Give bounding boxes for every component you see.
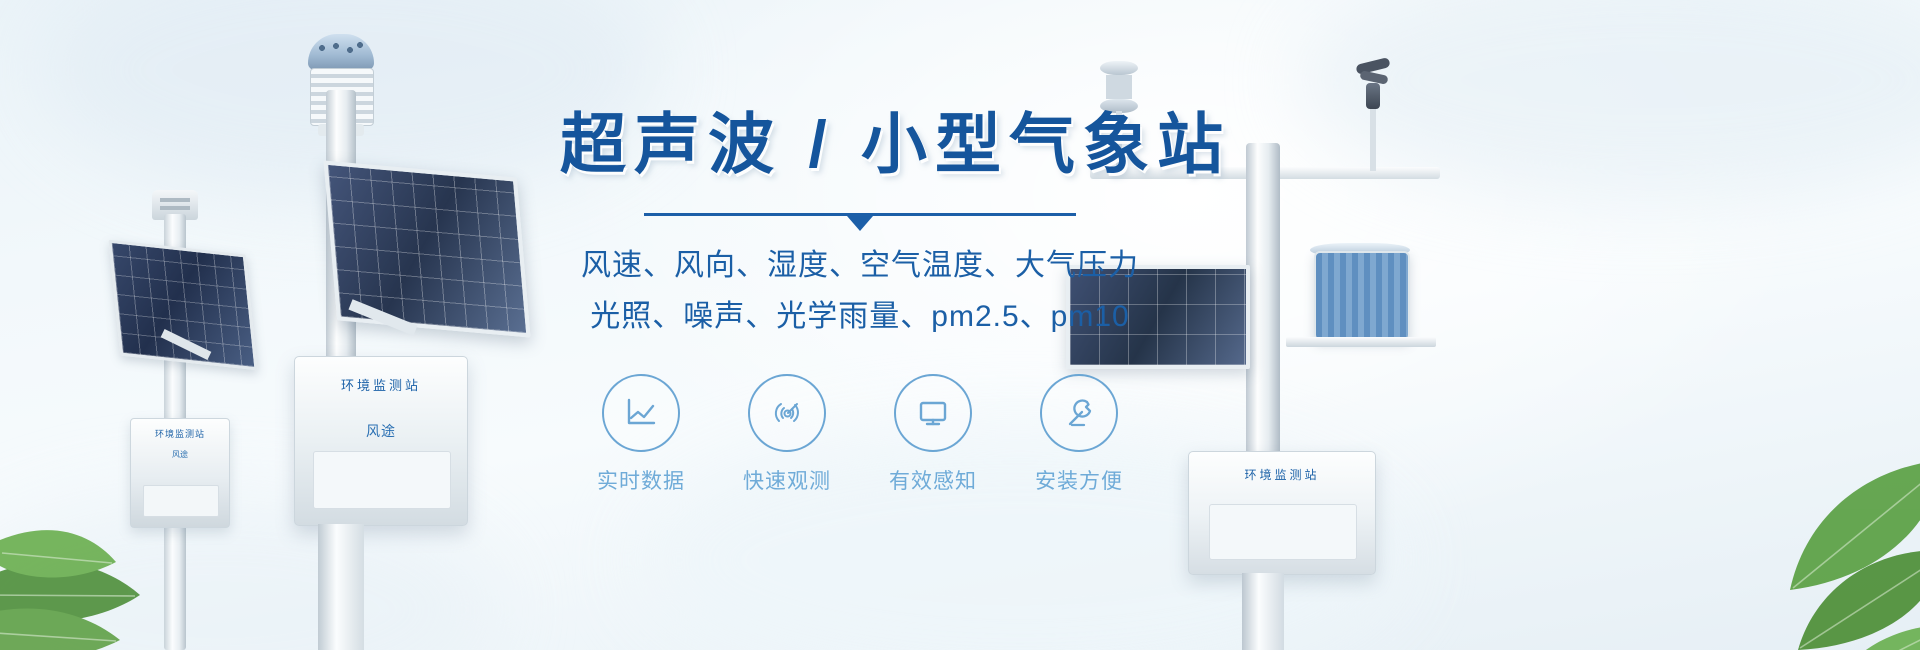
wrench-tool-icon bbox=[1059, 393, 1099, 433]
right-leaf-decoration bbox=[1630, 400, 1920, 650]
center-weather-station-illustration: 环境监测站 风途 bbox=[288, 20, 528, 650]
feature-caption: 实时数据 bbox=[591, 465, 691, 495]
feature-caption: 有效感知 bbox=[883, 465, 983, 495]
solar-panel bbox=[108, 240, 257, 371]
monitor-display-icon bbox=[913, 393, 953, 433]
dome-sensor-detail bbox=[316, 42, 366, 62]
left-leaf-decoration bbox=[0, 420, 250, 650]
title-divider bbox=[644, 213, 1076, 216]
banner-text-block: 超声波 / 小型气象站 风速、风向、湿度、空气温度、大气压力 光照、噪声、光学雨… bbox=[560, 108, 1160, 495]
center-equipment-cabinet: 环境监测站 风途 bbox=[294, 356, 468, 526]
radar-observation-icon bbox=[767, 393, 807, 433]
feature-icon-circle bbox=[748, 374, 826, 452]
feature-icon-circle bbox=[1040, 374, 1118, 452]
feature-item-easy-install[interactable]: 安装方便 bbox=[1029, 374, 1129, 495]
feature-list: 实时数据 快速观测 bbox=[560, 374, 1160, 495]
feature-item-effective-sensing[interactable]: 有效感知 bbox=[883, 374, 983, 495]
cabinet-label: 环境监测站 bbox=[295, 375, 467, 394]
optical-rain-gauge-icon bbox=[1314, 251, 1410, 341]
page-title: 超声波 / 小型气象站 bbox=[560, 108, 1160, 181]
cabinet-label: 环境监测站 bbox=[1189, 466, 1375, 483]
mast-base bbox=[1242, 573, 1284, 650]
feature-icon-circle bbox=[602, 374, 680, 452]
line-chart-icon bbox=[621, 393, 661, 433]
cabinet-brand: 风途 bbox=[295, 421, 467, 441]
chevron-down-icon bbox=[847, 216, 873, 231]
subtitle-line-2: 光照、噪声、光学雨量、pm2.5、pm10 bbox=[560, 293, 1160, 340]
feature-item-fast-observation[interactable]: 快速观测 bbox=[737, 374, 837, 495]
feature-item-realtime-data[interactable]: 实时数据 bbox=[591, 374, 691, 495]
subtitle-line-1: 风速、风向、湿度、空气温度、大气压力 bbox=[560, 242, 1160, 289]
cabinet-door bbox=[1209, 504, 1357, 560]
feature-caption: 快速观测 bbox=[737, 465, 837, 495]
wind-vane-anemometer-icon bbox=[1350, 59, 1396, 169]
feature-icon-circle bbox=[894, 374, 972, 452]
right-equipment-cabinet: 环境监测站 bbox=[1188, 451, 1376, 575]
mast-base bbox=[318, 524, 364, 650]
product-banner: 环境监测站 风途 环境监测站 风途 bbox=[0, 0, 1920, 650]
equipment-shelf bbox=[1286, 337, 1436, 347]
feature-caption: 安装方便 bbox=[1029, 465, 1129, 495]
cabinet-door bbox=[313, 451, 451, 509]
